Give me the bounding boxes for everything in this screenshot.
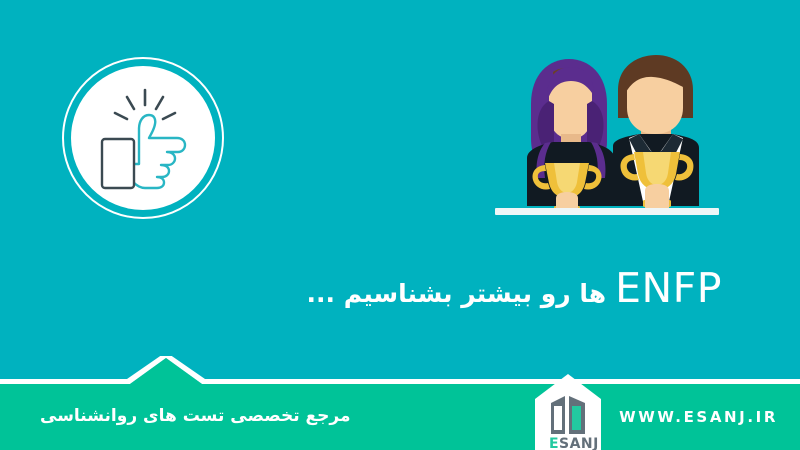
cuff-shape [102, 139, 134, 188]
podium-bar [495, 208, 719, 215]
headline-type-code: ENFP [615, 268, 722, 309]
two-award-winners-illustration [493, 46, 721, 221]
enfp-promo-banner: ENFP ها رو بیشتر بشناسیم ... مرجع تخصصی … [0, 0, 800, 450]
footer-tagline: مرجع تخصصی تست های روانشناسی [40, 405, 351, 429]
logo-text-e: E [549, 436, 559, 450]
thumbs-up-icon [71, 66, 215, 210]
footer-bar: مرجع تخصصی تست های روانشناسی E [0, 383, 800, 450]
woman-with-trophy [527, 59, 615, 212]
brand-block[interactable]: E SANJ WWW.ESANJ.IR [531, 372, 778, 450]
logo-text-sanj: SANJ [559, 436, 599, 450]
page-title: ENFP ها رو بیشتر بشناسیم ... [307, 268, 722, 311]
website-url[interactable]: WWW.ESANJ.IR [619, 408, 778, 426]
esanj-house-logo[interactable]: E SANJ [531, 372, 605, 450]
headline-subtitle: ها رو بیشتر بشناسیم ... [307, 277, 607, 311]
hand-shape [133, 115, 185, 188]
thumbs-up-badge [62, 57, 224, 219]
man-with-trophy [613, 55, 699, 208]
